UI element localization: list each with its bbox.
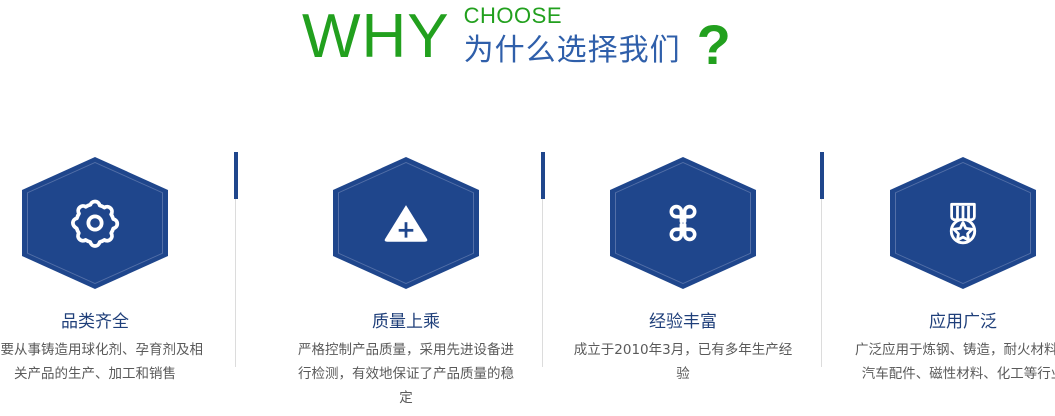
column-divider-1	[234, 152, 238, 367]
feature-item-3[interactable]: 经验丰富 成立于2010年3月，已有多年生产经验	[551, 95, 815, 416]
heading-why-word: WHY	[302, 2, 450, 72]
heading-text-stack: CHOOSE 为什么选择我们	[464, 4, 681, 70]
feature-item-1[interactable]: 品类齐全 主要从事铸造用球化剂、孕育剂及相关产品的生产、加工和销售	[0, 95, 227, 416]
section-heading: WHY CHOOSE 为什么选择我们 ?	[0, 0, 1055, 95]
column-divider-3	[820, 152, 824, 367]
feature-text-2: 质量上乘 严格控制产品质量，采用先进设备进行检测，有效地保证了产品质量的稳定	[274, 311, 538, 410]
triangle-plus-icon	[380, 197, 432, 249]
feature-title: 质量上乘	[274, 311, 538, 333]
feature-description: 广泛应用于炼钢、铸造，耐火材料、汽车配件、磁性材料、化工等行业	[831, 338, 1055, 386]
column-divider-2	[541, 152, 545, 367]
feature-hexagon-1	[22, 157, 168, 289]
divider-blue-segment	[820, 152, 824, 199]
medal-icon	[937, 197, 989, 249]
heading-question-mark: ?	[697, 16, 731, 74]
clover-icon	[657, 197, 709, 249]
heading-choose-word: CHOOSE	[464, 4, 681, 28]
divider-grey-segment	[821, 199, 822, 367]
feature-description: 严格控制产品质量，采用先进设备进行检测，有效地保证了产品质量的稳定	[274, 338, 538, 410]
feature-title: 品类齐全	[0, 311, 227, 333]
feature-hexagon-4	[890, 157, 1036, 289]
feature-text-3: 经验丰富 成立于2010年3月，已有多年生产经验	[551, 311, 815, 386]
feature-text-4: 应用广泛 广泛应用于炼钢、铸造，耐火材料、汽车配件、磁性材料、化工等行业	[831, 311, 1055, 386]
feature-title: 应用广泛	[831, 311, 1055, 333]
feature-hexagon-2	[333, 157, 479, 289]
feature-item-2[interactable]: 质量上乘 严格控制产品质量，采用先进设备进行检测，有效地保证了产品质量的稳定	[274, 95, 538, 416]
feature-description: 成立于2010年3月，已有多年生产经验	[551, 338, 815, 386]
feature-text-1: 品类齐全 主要从事铸造用球化剂、孕育剂及相关产品的生产、加工和销售	[0, 311, 227, 386]
feature-columns: 品类齐全 主要从事铸造用球化剂、孕育剂及相关产品的生产、加工和销售 质量	[0, 95, 1055, 416]
feature-description: 主要从事铸造用球化剂、孕育剂及相关产品的生产、加工和销售	[0, 338, 227, 386]
feature-hexagon-3	[610, 157, 756, 289]
feature-item-4[interactable]: 应用广泛 广泛应用于炼钢、铸造，耐火材料、汽车配件、磁性材料、化工等行业	[831, 95, 1055, 416]
feature-title: 经验丰富	[551, 311, 815, 333]
heading-inner: WHY CHOOSE 为什么选择我们 ?	[302, 2, 731, 74]
why-choose-us-section: WHY CHOOSE 为什么选择我们 ?	[0, 0, 1055, 416]
heading-chinese-subtitle: 为什么选择我们	[464, 32, 681, 70]
divider-grey-segment	[542, 199, 543, 367]
divider-grey-segment	[235, 199, 236, 367]
divider-blue-segment	[234, 152, 238, 199]
divider-blue-segment	[541, 152, 545, 199]
gear-icon	[69, 197, 121, 249]
